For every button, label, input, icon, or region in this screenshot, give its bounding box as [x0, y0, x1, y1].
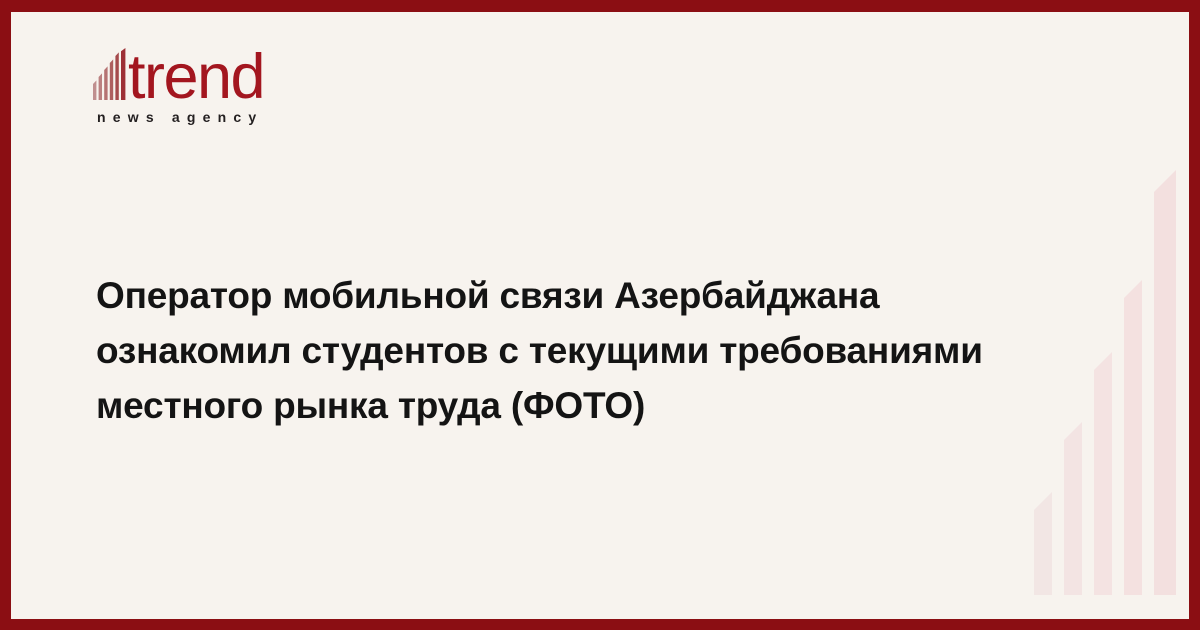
trend-bars-mark-icon — [93, 48, 127, 100]
headline-line-3: местного рынка труда (ФОТО) — [96, 378, 1061, 433]
frame-band-top — [0, 0, 1200, 12]
trend-logo[interactable]: trend news agency — [93, 44, 264, 125]
headline-line-2: ознакомил студентов с текущими требовани… — [96, 323, 1061, 378]
frame-band-bottom — [0, 619, 1200, 630]
logo-wordmark: trend — [128, 51, 264, 103]
logo-row: trend — [93, 44, 264, 100]
frame-band-left — [0, 0, 11, 630]
frame-band-right — [1189, 0, 1200, 630]
headline-line-1: Оператор мобильной связи Азербайджана — [96, 268, 1061, 323]
headline: Оператор мобильной связи Азербайджана оз… — [96, 268, 1061, 433]
social-share-card: trend news agency Оператор мобильной свя… — [0, 0, 1200, 630]
